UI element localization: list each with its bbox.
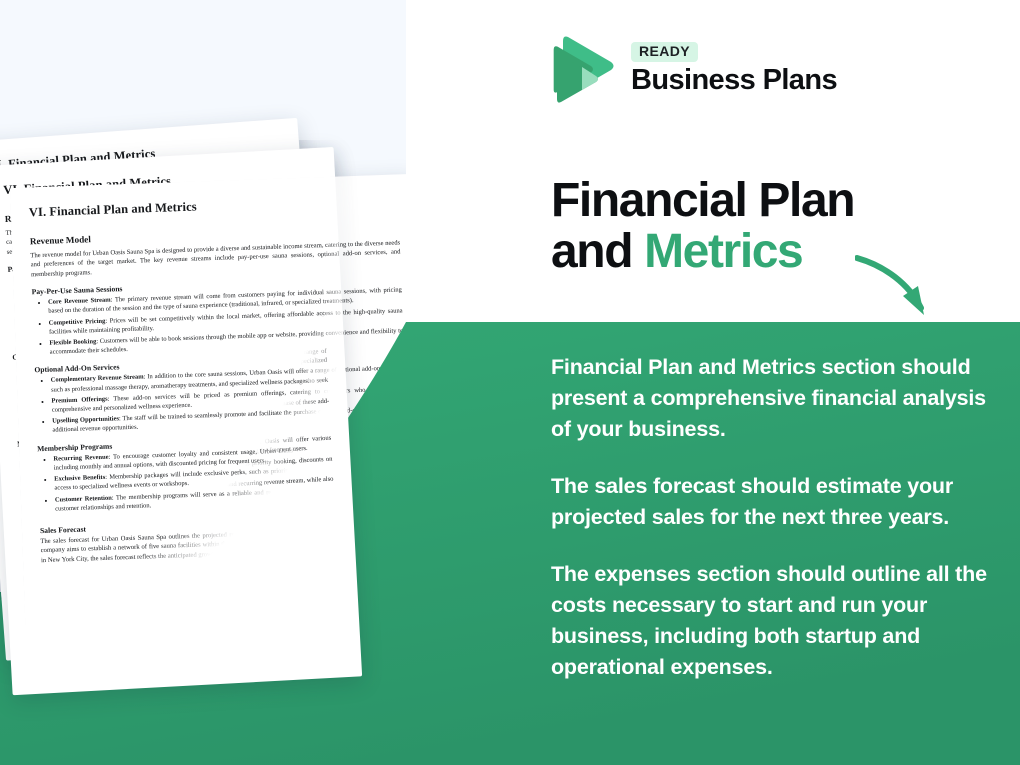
body-paragraph-2: The sales forecast should estimate your … — [551, 471, 999, 533]
doc-bullets-add-on: Complementary Revenue Stream: In additio… — [35, 364, 407, 436]
document-stack: VI. Financial Plan and Metrics Revenue M… — [0, 140, 530, 740]
play-triangles-logo-icon — [549, 33, 615, 105]
page-front-body: VI. Financial Plan and Metrics Revenue M… — [10, 174, 429, 566]
brand-logo: READY Business Plans — [549, 33, 837, 105]
curved-arrow-down-right-icon — [855, 252, 965, 324]
doc-bullets-pay-per-use: Core Revenue Stream: The primary revenue… — [32, 285, 404, 357]
doc-section-paragraph: The revenue model for Urban Oasis Sauna … — [30, 238, 401, 279]
document-page-front: VI. Financial Plan and Metrics Revenue M… — [10, 174, 435, 728]
brand-name: Business Plans — [631, 65, 837, 95]
body-copy: Financial Plan and Metrics section shoul… — [551, 352, 999, 683]
brand-logo-text: READY Business Plans — [631, 42, 837, 96]
doc-bullets-membership: Recurring Revenue: To encourage customer… — [37, 442, 409, 514]
headline-line-2-accent: Metrics — [644, 225, 802, 278]
doc-title: VI. Financial Plan and Metrics — [29, 192, 399, 220]
slide-canvas: VI. Financial Plan and Metrics Revenue M… — [0, 0, 1020, 765]
headline-line-2-plain: and — [551, 225, 644, 278]
headline-line-1: Financial Plan — [551, 174, 854, 227]
ready-badge: READY — [631, 42, 698, 62]
body-paragraph-3: The expenses section should outline all … — [551, 559, 999, 683]
body-paragraph-1: Financial Plan and Metrics section shoul… — [551, 352, 999, 445]
